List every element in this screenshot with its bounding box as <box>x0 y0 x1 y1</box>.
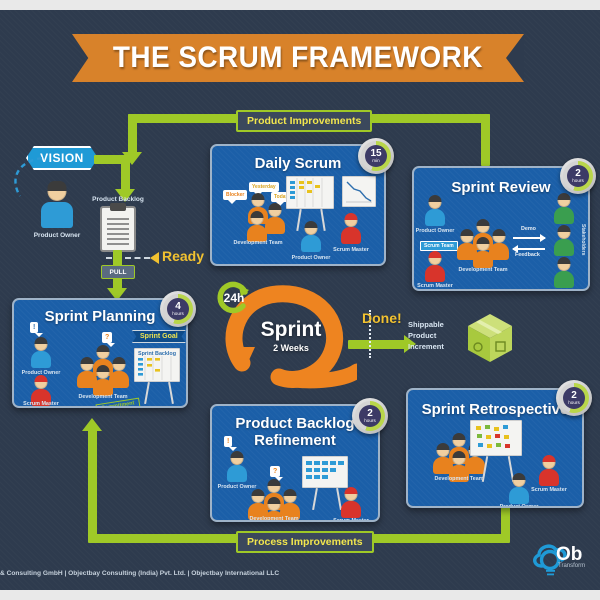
person-scrum-master <box>538 456 560 486</box>
daily-cycle-24h-graphic <box>213 278 255 320</box>
label-done: Done! <box>362 310 402 326</box>
person-product-owner <box>30 338 52 368</box>
badge-unit: hours <box>572 179 584 184</box>
caption-shippable-increment: Shippable Product Increment <box>408 320 444 353</box>
person-product-owner <box>508 474 530 504</box>
page-title: THE SCRUM FRAMEWORK <box>113 41 483 75</box>
flow-bottom-left-arrowhead <box>82 418 102 431</box>
arrow-demo <box>513 237 545 239</box>
badge-unit: hours <box>364 419 376 424</box>
bubble-question: ? <box>102 332 112 343</box>
role-scrum-master: Scrum Master <box>531 487 567 493</box>
label-ready: Ready <box>162 248 204 264</box>
refinement-board-cards <box>302 456 348 488</box>
sprint-backlog-cards <box>134 348 180 382</box>
flow-top-right-vertical <box>481 114 490 166</box>
role-product-owner: Product Owner <box>416 228 455 234</box>
badge-sprint-review: 2 hours <box>560 158 596 194</box>
badge-unit: hours <box>568 401 580 406</box>
role-product-owner: Product Owner <box>500 504 539 508</box>
infographic-canvas: THE SCRUM FRAMEWORK Product Improvements… <box>0 10 600 590</box>
flow-top-left-vertical <box>128 114 137 154</box>
sprint-title: Sprint <box>225 318 357 342</box>
person-scrum-master <box>424 252 446 282</box>
tag-scrum-team: Scrum Team <box>420 241 458 251</box>
bubble-exclamation: ! <box>224 436 232 447</box>
role-scrum-master: Scrum Master <box>333 518 369 522</box>
badge-daily-scrum: 15 min <box>358 138 394 174</box>
shippable-product-box-icon <box>464 310 516 364</box>
footer-text: & Consulting GmbH | Objectbay Consulting… <box>0 570 279 577</box>
person-dev-4 <box>246 212 268 242</box>
role-scrum-master: Scrum Master <box>417 283 453 289</box>
pull-label: PULL <box>110 269 127 276</box>
person-product-owner-main <box>40 182 74 228</box>
label-product-improvements: Product Improvements <box>236 110 372 132</box>
person-dev-4 <box>472 238 494 268</box>
label-demo: Demo <box>521 226 536 232</box>
badge-unit: min <box>372 159 379 164</box>
person-product-owner <box>226 452 248 482</box>
flow-bottom-left-vertical <box>88 430 97 540</box>
role-development-team: Development Team <box>458 267 507 273</box>
person-stakeholder-3 <box>553 258 575 288</box>
flow-sprint-to-increment <box>348 340 406 349</box>
role-development-team: Development Team <box>78 394 127 400</box>
burndown-line <box>342 176 376 207</box>
role-development-team: Development Team <box>233 240 282 246</box>
task-board-cards <box>286 176 334 209</box>
person-scrum-master <box>340 214 362 244</box>
top-edge-strip <box>0 0 600 10</box>
clipboard-clip-icon <box>110 203 126 211</box>
role-stakeholders: Stakeholders <box>580 224 586 255</box>
retrospective-stickies <box>470 420 522 456</box>
badge-sprint-planning: 4 hours <box>160 291 196 327</box>
product-backlog-clipboard <box>100 206 136 252</box>
logo-tagline: Transform <box>558 563 585 569</box>
label-feedback: Feedback <box>515 252 540 258</box>
sprint-center-text: Sprint 2 Weeks <box>225 318 357 353</box>
bubble-blocker: Blocker <box>223 190 247 200</box>
person-dev-4 <box>92 366 114 396</box>
person-product-owner <box>424 196 446 226</box>
badge-sprint-retrospective: 2 hours <box>556 380 592 416</box>
shippable-line-1: Shippable <box>408 320 444 331</box>
person-stakeholder-2 <box>553 226 575 256</box>
label-process-improvements: Process Improvements <box>236 531 374 553</box>
arrow-feedback <box>513 248 545 250</box>
caption-product-owner: Product Owner <box>34 232 81 239</box>
shippable-line-3: Increment <box>408 342 444 353</box>
ready-arrow-icon <box>150 252 159 264</box>
bubble-question: ? <box>270 466 280 477</box>
banner-sprint-goal: Sprint Goal <box>132 330 186 343</box>
caption-product-backlog: Product Backlog <box>92 196 144 203</box>
person-scrum-master <box>340 488 362 518</box>
role-development-team: Development Team <box>249 516 298 522</box>
role-product-owner: Product Owner <box>292 255 331 261</box>
sprint-duration: 2 Weeks <box>225 343 357 353</box>
role-scrum-master: Scrum Master <box>333 247 369 253</box>
pull-tag: PULL <box>101 265 135 279</box>
shippable-line-2: Product <box>408 331 444 342</box>
person-product-owner <box>300 222 322 252</box>
flow-bottom-right-vertical <box>501 502 510 542</box>
person-stakeholder-1 <box>553 194 575 224</box>
badge-unit: hours <box>172 312 184 317</box>
role-scrum-master: Scrum Master <box>23 401 59 407</box>
badge-product-backlog-refinement: 2 hours <box>352 398 388 434</box>
bubble-yesterday: Yesterday <box>249 182 279 192</box>
flow-vision-to-backlog-down <box>121 155 130 191</box>
title-banner: THE SCRUM FRAMEWORK <box>72 34 524 82</box>
bottom-edge-strip <box>0 590 600 600</box>
bubble-exclamation: ! <box>30 322 38 333</box>
role-development-team: Development Team <box>434 476 483 482</box>
